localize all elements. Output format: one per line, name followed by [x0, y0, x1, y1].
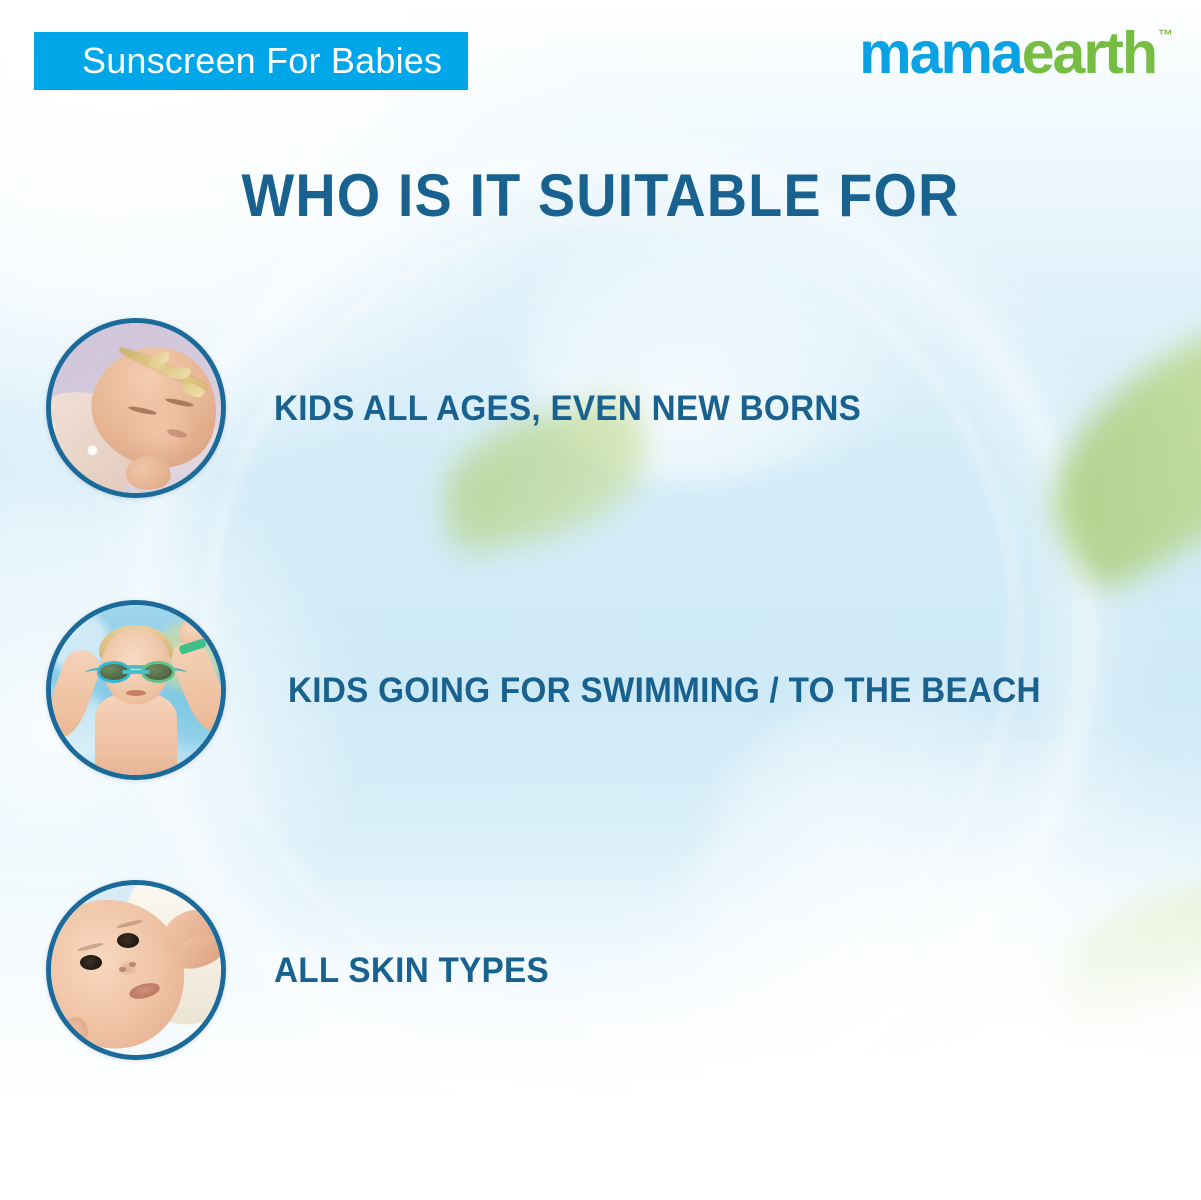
sleeping-newborn-photo [46, 318, 226, 498]
benefit-row: ALL SKIN TYPES [46, 880, 563, 1060]
benefit-label: KIDS GOING FOR SWIMMING / TO THE BEACH [288, 673, 1041, 708]
benefit-row: KIDS ALL AGES, EVEN NEW BORNS [46, 318, 892, 498]
benefit-label: ALL SKIN TYPES [274, 953, 549, 988]
benefit-row: KIDS GOING FOR SWIMMING / TO THE BEACH [46, 600, 1080, 780]
benefit-label: KIDS ALL AGES, EVEN NEW BORNS [274, 391, 861, 426]
baby-face-skincare-photo [46, 880, 226, 1060]
page-title: WHO IS IT SUITABLE FOR [42, 166, 1159, 226]
promo-banner-canvas: Sunscreen For Babies mama earth ™ WHO IS… [0, 0, 1201, 1200]
mamaearth-logo: mama earth ™ [859, 24, 1173, 83]
product-category-ribbon: Sunscreen For Babies [34, 32, 468, 90]
leaf-right-middle [1011, 297, 1201, 599]
boy-with-swim-goggles-artwork [51, 605, 221, 775]
boy-with-swim-goggles-photo [46, 600, 226, 780]
bottom-right-glow [581, 740, 1201, 1200]
logo-text-mama: mama [859, 24, 1022, 83]
sleeping-newborn-artwork [51, 323, 221, 493]
baby-face-skincare-artwork [51, 885, 221, 1055]
logo-text-earth: earth [1022, 24, 1156, 83]
ribbon-label: Sunscreen For Babies [82, 43, 442, 79]
leaf-bottom-right [1044, 881, 1201, 1034]
trademark-icon: ™ [1158, 28, 1173, 43]
